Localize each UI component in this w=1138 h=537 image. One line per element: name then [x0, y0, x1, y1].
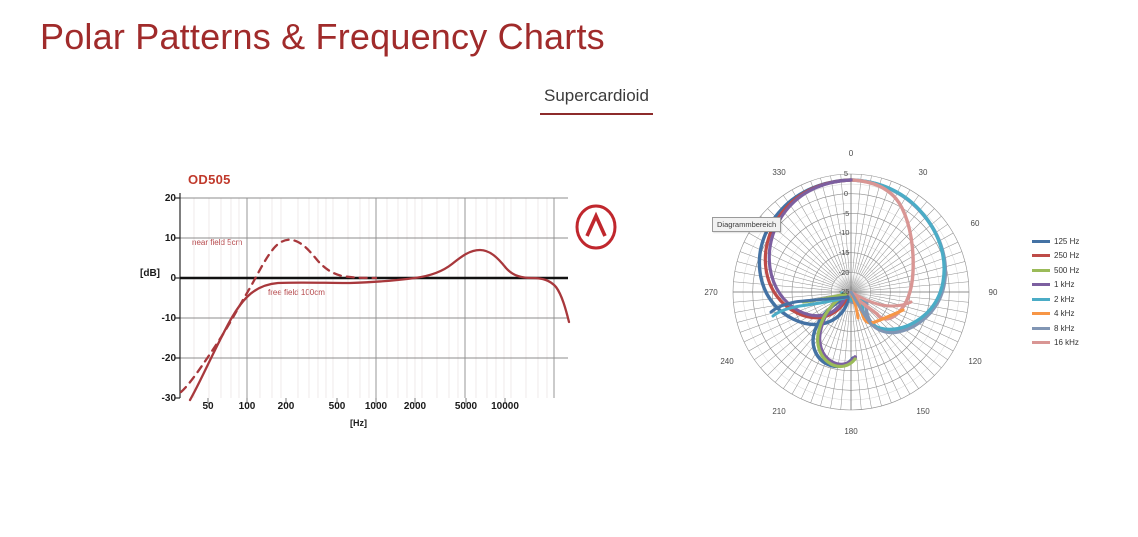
angle-label-270: 270	[704, 288, 718, 297]
legend-label: 500 Hz	[1054, 266, 1079, 275]
angle-label-0: 0	[849, 149, 854, 158]
radial-label-5: 5	[844, 169, 848, 178]
radial-label-minus5: -5	[843, 209, 850, 218]
angle-label-120: 120	[968, 357, 982, 366]
legend-label: 250 Hz	[1054, 251, 1079, 260]
legend-item[interactable]: 1 kHz	[1032, 278, 1128, 293]
legend-swatch-125hz	[1032, 240, 1050, 243]
legend-label: 125 Hz	[1054, 237, 1079, 246]
tab-bar: Supercardioid	[540, 86, 653, 115]
legend-label: 4 kHz	[1054, 309, 1074, 318]
slide-canvas: Polar Patterns & Frequency Charts Superc…	[0, 0, 1138, 537]
legend-swatch-16khz	[1032, 341, 1050, 344]
legend-label: 1 kHz	[1054, 280, 1074, 289]
polar-chart-legend: 125 Hz 250 Hz 500 Hz 1 kHz 2 kHz 4 kHz 8…	[1032, 234, 1128, 350]
legend-item[interactable]: 4 kHz	[1032, 307, 1128, 322]
angle-label-330: 330	[772, 168, 786, 177]
angle-label-240: 240	[720, 357, 734, 366]
radial-tick-labels: 5 0 -5 -10 -15 -20 -25	[839, 169, 850, 296]
angle-label-90: 90	[989, 288, 998, 297]
diagram-area-tooltip: Diagrammbereich	[712, 217, 781, 232]
microtech-gefell-logo	[572, 203, 620, 251]
legend-item[interactable]: 500 Hz	[1032, 263, 1128, 278]
polar-plot-area: 0 30 60 90 120 150 180 210 240 270 300 3…	[703, 142, 999, 438]
legend-swatch-250hz	[1032, 254, 1050, 257]
frequency-response-chart: OD505 [dB] [Hz] 20 10 0 -10 -20 -30 50 1…	[150, 160, 580, 435]
legend-label: 16 kHz	[1054, 338, 1079, 347]
legend-swatch-500hz	[1032, 269, 1050, 272]
angle-label-180: 180	[844, 427, 858, 436]
legend-swatch-2khz	[1032, 298, 1050, 301]
radial-label-minus15: -15	[839, 248, 850, 257]
frequency-plot-area	[150, 160, 580, 435]
angle-label-210: 210	[772, 407, 786, 416]
legend-item[interactable]: 16 kHz	[1032, 336, 1128, 351]
legend-item[interactable]: 250 Hz	[1032, 249, 1128, 264]
legend-item[interactable]: 8 kHz	[1032, 321, 1128, 336]
radial-label-minus25: -25	[839, 287, 850, 296]
radial-label-minus10: -10	[839, 228, 850, 237]
angle-label-30: 30	[919, 168, 928, 177]
legend-item[interactable]: 2 kHz	[1032, 292, 1128, 307]
legend-swatch-1khz	[1032, 283, 1050, 286]
radial-label-0: 0	[844, 189, 848, 198]
legend-label: 8 kHz	[1054, 324, 1074, 333]
tab-supercardioid[interactable]: Supercardioid	[540, 86, 653, 115]
near-field-curve	[181, 240, 376, 392]
major-grid-lines	[247, 198, 554, 398]
legend-swatch-4khz	[1032, 312, 1050, 315]
legend-item[interactable]: 125 Hz	[1032, 234, 1128, 249]
y-axis-ticks	[175, 198, 180, 398]
angle-label-150: 150	[916, 407, 930, 416]
legend-label: 2 kHz	[1054, 295, 1074, 304]
page-title: Polar Patterns & Frequency Charts	[40, 16, 605, 58]
radial-label-minus20: -20	[839, 268, 850, 277]
legend-swatch-8khz	[1032, 327, 1050, 330]
polar-pattern-chart: Diagrammbereich	[703, 142, 999, 438]
angle-label-60: 60	[971, 219, 980, 228]
x-axis-ticks	[208, 398, 505, 404]
